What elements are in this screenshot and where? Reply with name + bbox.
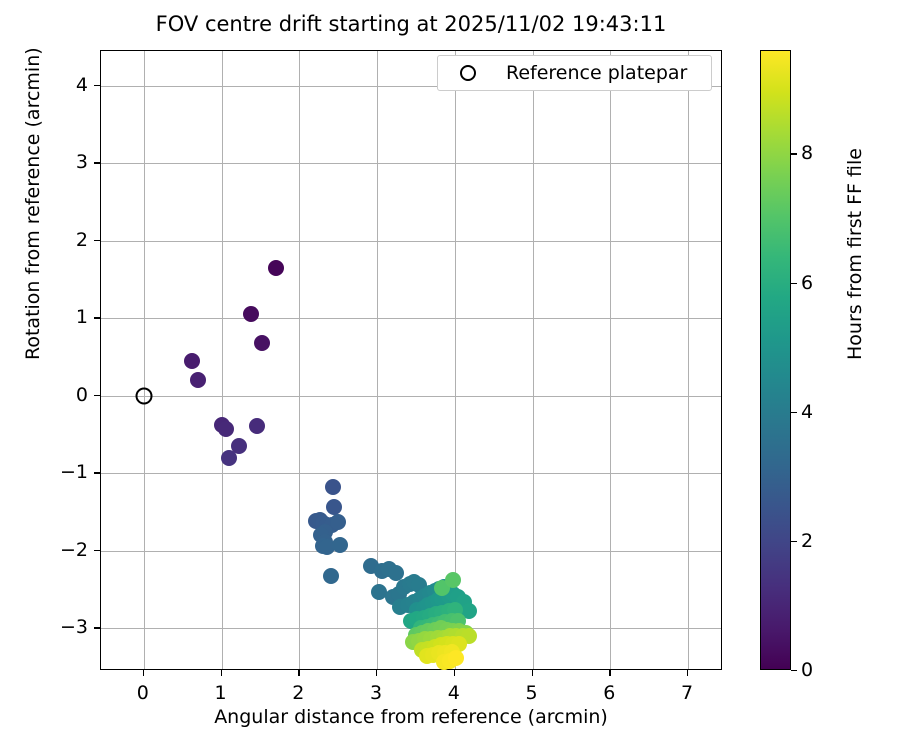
scatter-point xyxy=(184,353,200,369)
colorbar-tick-label: 4 xyxy=(801,401,813,423)
y-tick-mark xyxy=(94,240,100,241)
scatter-point xyxy=(388,565,404,581)
y-tick-label: 4 xyxy=(40,74,88,96)
x-tick-label: 2 xyxy=(292,682,304,704)
reference-platepar-point xyxy=(135,387,152,404)
plot-area xyxy=(100,50,722,670)
y-axis-label: Rotation from reference (arcmin) xyxy=(22,47,44,360)
y-tick-label: −3 xyxy=(40,616,88,638)
y-tick-label: −2 xyxy=(40,539,88,561)
colorbar xyxy=(760,50,791,670)
scatter-point xyxy=(448,650,464,666)
scatter-point xyxy=(325,479,341,495)
y-tick-label: 3 xyxy=(40,151,88,173)
y-tick-mark xyxy=(94,162,100,163)
x-tick-mark xyxy=(143,670,144,676)
colorbar-tick-mark xyxy=(791,670,797,671)
reference-platepar-marker-icon xyxy=(460,65,476,81)
x-tick-label: 7 xyxy=(681,682,693,704)
y-tick-mark xyxy=(94,85,100,86)
scatter-point xyxy=(221,450,237,466)
x-tick-mark xyxy=(221,670,222,676)
gridline-vertical xyxy=(144,51,145,669)
gridline-vertical xyxy=(533,51,534,669)
x-tick-mark xyxy=(376,670,377,676)
scatter-point xyxy=(254,335,270,351)
colorbar-tick-mark xyxy=(791,153,797,154)
scatter-point xyxy=(323,568,339,584)
legend-label-reference-platepar: Reference platepar xyxy=(506,62,687,84)
x-tick-mark xyxy=(687,670,688,676)
y-tick-mark xyxy=(94,472,100,473)
x-tick-mark xyxy=(532,670,533,676)
gridline-horizontal xyxy=(101,396,721,397)
y-tick-label: 2 xyxy=(40,229,88,251)
scatter-point xyxy=(190,372,206,388)
x-tick-label: 5 xyxy=(525,682,537,704)
x-tick-label: 6 xyxy=(603,682,615,704)
gridline-vertical xyxy=(222,51,223,669)
chart-title: FOV centre drift starting at 2025/11/02 … xyxy=(0,12,822,36)
x-tick-mark xyxy=(609,670,610,676)
scatter-point xyxy=(268,260,284,276)
legend: Reference platepar xyxy=(437,55,712,91)
y-tick-mark xyxy=(94,317,100,318)
x-tick-label: 1 xyxy=(214,682,226,704)
gridline-horizontal xyxy=(101,318,721,319)
scatter-point xyxy=(243,306,259,322)
x-tick-label: 4 xyxy=(448,682,460,704)
chart-figure: FOV centre drift starting at 2025/11/02 … xyxy=(0,0,900,750)
gridline-vertical xyxy=(610,51,611,669)
y-tick-label: −1 xyxy=(40,461,88,483)
x-tick-mark xyxy=(298,670,299,676)
gridline-horizontal xyxy=(101,241,721,242)
gridline-vertical xyxy=(299,51,300,669)
x-tick-label: 3 xyxy=(370,682,382,704)
gridline-horizontal xyxy=(101,551,721,552)
y-tick-mark xyxy=(94,550,100,551)
scatter-point xyxy=(332,537,348,553)
scatter-point xyxy=(218,421,234,437)
colorbar-tick-mark xyxy=(791,412,797,413)
y-tick-label: 0 xyxy=(40,384,88,406)
x-tick-label: 0 xyxy=(137,682,149,704)
y-tick-mark xyxy=(94,627,100,628)
gridline-horizontal xyxy=(101,473,721,474)
scatter-point xyxy=(445,572,461,588)
colorbar-tick-mark xyxy=(791,541,797,542)
colorbar-tick-label: 0 xyxy=(801,659,813,681)
gridline-vertical xyxy=(688,51,689,669)
colorbar-tick-label: 8 xyxy=(801,142,813,164)
scatter-point xyxy=(249,418,265,434)
x-tick-mark xyxy=(454,670,455,676)
colorbar-tick-label: 2 xyxy=(801,530,813,552)
colorbar-tick-label: 6 xyxy=(801,272,813,294)
x-axis-label: Angular distance from reference (arcmin) xyxy=(100,706,722,728)
colorbar-tick-mark xyxy=(791,283,797,284)
scatter-point xyxy=(330,514,346,530)
scatter-point xyxy=(326,499,342,515)
y-tick-label: 1 xyxy=(40,306,88,328)
colorbar-label: Hours from first FF file xyxy=(844,148,866,360)
y-tick-mark xyxy=(94,395,100,396)
gridline-horizontal xyxy=(101,163,721,164)
